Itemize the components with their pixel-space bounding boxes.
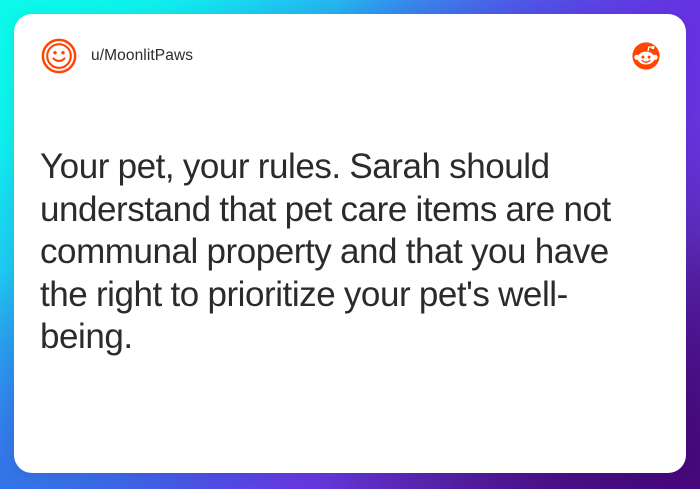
post-body-text: Your pet, your rules. Sarah should under… <box>40 146 660 359</box>
post-header: u/MoonlitPaws <box>14 14 686 98</box>
reddit-post-card: u/MoonlitPaws <box>14 14 686 473</box>
reddit-snoo-icon[interactable] <box>630 40 662 72</box>
username-label: u/MoonlitPaws <box>91 47 193 65</box>
smiley-face-avatar-icon[interactable] <box>40 37 78 75</box>
gradient-background: u/MoonlitPaws <box>0 0 700 489</box>
